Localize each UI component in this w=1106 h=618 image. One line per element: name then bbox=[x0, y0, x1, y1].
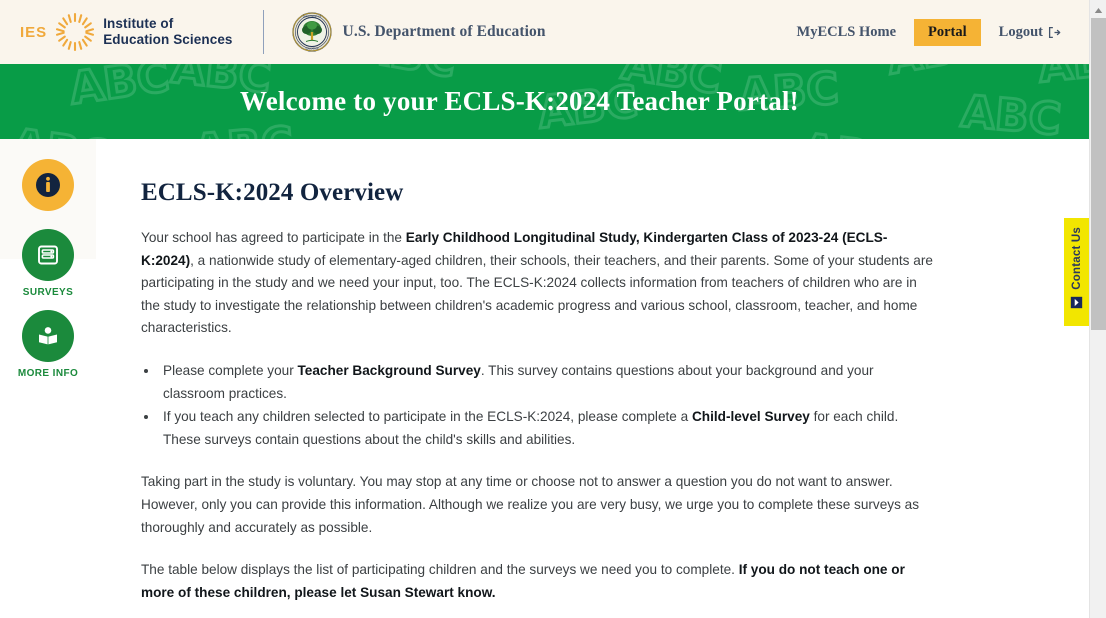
header-navigation: MyECLS Home Portal Logout bbox=[787, 0, 1071, 64]
more-info-icon bbox=[35, 323, 61, 349]
info-icon bbox=[35, 172, 61, 198]
welcome-banner: ABC ABC ABC ABC ABC ABC ABC ABC ABC ABC … bbox=[0, 64, 1089, 139]
overview-paragraph-1: Your school has agreed to participate in… bbox=[141, 227, 939, 340]
doe-name: U.S. Department of Education bbox=[343, 23, 546, 41]
svg-text:DEPARTMENT OF: DEPARTMENT OF bbox=[302, 15, 321, 18]
overview-paragraph-3: The table below displays the list of par… bbox=[141, 559, 939, 604]
svg-text:ABC: ABC bbox=[192, 117, 296, 139]
sidebar-more-info-circle bbox=[22, 310, 74, 362]
p1-text-1: Your school has agreed to participate in… bbox=[141, 230, 406, 245]
sunburst-icon bbox=[55, 12, 95, 52]
header-divider bbox=[263, 10, 264, 54]
svg-text:ABC: ABC bbox=[8, 119, 114, 139]
doe-logo[interactable]: DEPARTMENT OF EDUCATION U.S. Department … bbox=[292, 12, 546, 52]
chevron-right-icon bbox=[1070, 296, 1083, 309]
sidebar-items: SURVEYS MORE INFO bbox=[0, 159, 96, 387]
svg-text:ABC: ABC bbox=[883, 64, 990, 85]
nav-logout-label: Logout bbox=[999, 24, 1043, 41]
browser-page: IES bbox=[0, 0, 1106, 618]
page-title: ECLS-K:2024 Overview bbox=[141, 179, 939, 207]
ies-full-name: Institute of Education Sciences bbox=[103, 16, 232, 48]
logout-icon bbox=[1048, 26, 1061, 39]
survey-instructions-list: Please complete your Teacher Background … bbox=[159, 360, 939, 451]
main-content: ECLS-K:2024 Overview Your school has agr… bbox=[96, 139, 1089, 618]
left-sidebar: SURVEYS MORE INFO bbox=[0, 139, 96, 259]
p1-text-2: , a nationwide study of elementary-aged … bbox=[141, 253, 933, 336]
page-viewport: IES bbox=[0, 0, 1089, 618]
svg-text:ABC: ABC bbox=[959, 86, 1063, 139]
bullet-2-text-1: If you teach any children selected to pa… bbox=[163, 409, 692, 424]
svg-text:EDUCATION: EDUCATION bbox=[305, 47, 318, 50]
logo-group: IES bbox=[20, 10, 546, 54]
nav-myecls-home[interactable]: MyECLS Home bbox=[787, 20, 906, 45]
list-item: If you teach any children selected to pa… bbox=[159, 406, 939, 451]
svg-text:ABC: ABC bbox=[1036, 64, 1089, 93]
sidebar-item-overview[interactable] bbox=[22, 159, 74, 211]
ies-name-line2: Education Sciences bbox=[103, 32, 232, 48]
scrollbar-thumb[interactable] bbox=[1091, 18, 1106, 330]
ies-logo[interactable]: IES bbox=[20, 12, 233, 52]
sidebar-surveys-circle bbox=[22, 229, 74, 281]
svg-text:ABC: ABC bbox=[353, 64, 460, 88]
bullet-2-bold-1: Child-level Survey bbox=[692, 409, 810, 424]
surveys-icon bbox=[35, 242, 61, 268]
nav-logout[interactable]: Logout bbox=[989, 20, 1071, 45]
ies-name-line1: Institute of bbox=[103, 16, 232, 32]
overview-paragraph-2: Taking part in the study is voluntary. Y… bbox=[141, 471, 939, 539]
svg-text:ABC: ABC bbox=[66, 64, 172, 115]
svg-text:ABC: ABC bbox=[799, 124, 904, 139]
sidebar-item-label-surveys: SURVEYS bbox=[23, 287, 73, 298]
sidebar-item-more-info[interactable]: MORE INFO bbox=[18, 310, 78, 379]
p3-text-1: The table below displays the list of par… bbox=[141, 562, 739, 577]
svg-text:ABC: ABC bbox=[439, 132, 542, 139]
list-item: Please complete your Teacher Background … bbox=[159, 360, 939, 405]
department-of-education-seal-icon: DEPARTMENT OF EDUCATION bbox=[292, 12, 332, 52]
contact-us-label: Contact Us bbox=[1071, 227, 1083, 290]
page-body: SURVEYS MORE INFO bbox=[0, 139, 1089, 618]
banner-title: Welcome to your ECLS-K:2024 Teacher Port… bbox=[240, 86, 799, 117]
sidebar-overview-circle bbox=[22, 159, 74, 211]
vertical-scrollbar[interactable] bbox=[1089, 0, 1106, 618]
contact-us-tab[interactable]: Contact Us bbox=[1064, 218, 1089, 326]
scroll-up-arrow-icon[interactable] bbox=[1090, 3, 1106, 17]
sidebar-item-label-more-info: MORE INFO bbox=[18, 368, 78, 379]
sidebar-item-surveys[interactable]: SURVEYS bbox=[22, 229, 74, 298]
site-header: IES bbox=[0, 0, 1089, 64]
ies-abbreviation: IES bbox=[20, 24, 47, 41]
bullet-1-text-1: Please complete your bbox=[163, 363, 298, 378]
bullet-1-bold-1: Teacher Background Survey bbox=[298, 363, 481, 378]
nav-portal[interactable]: Portal bbox=[914, 19, 981, 46]
